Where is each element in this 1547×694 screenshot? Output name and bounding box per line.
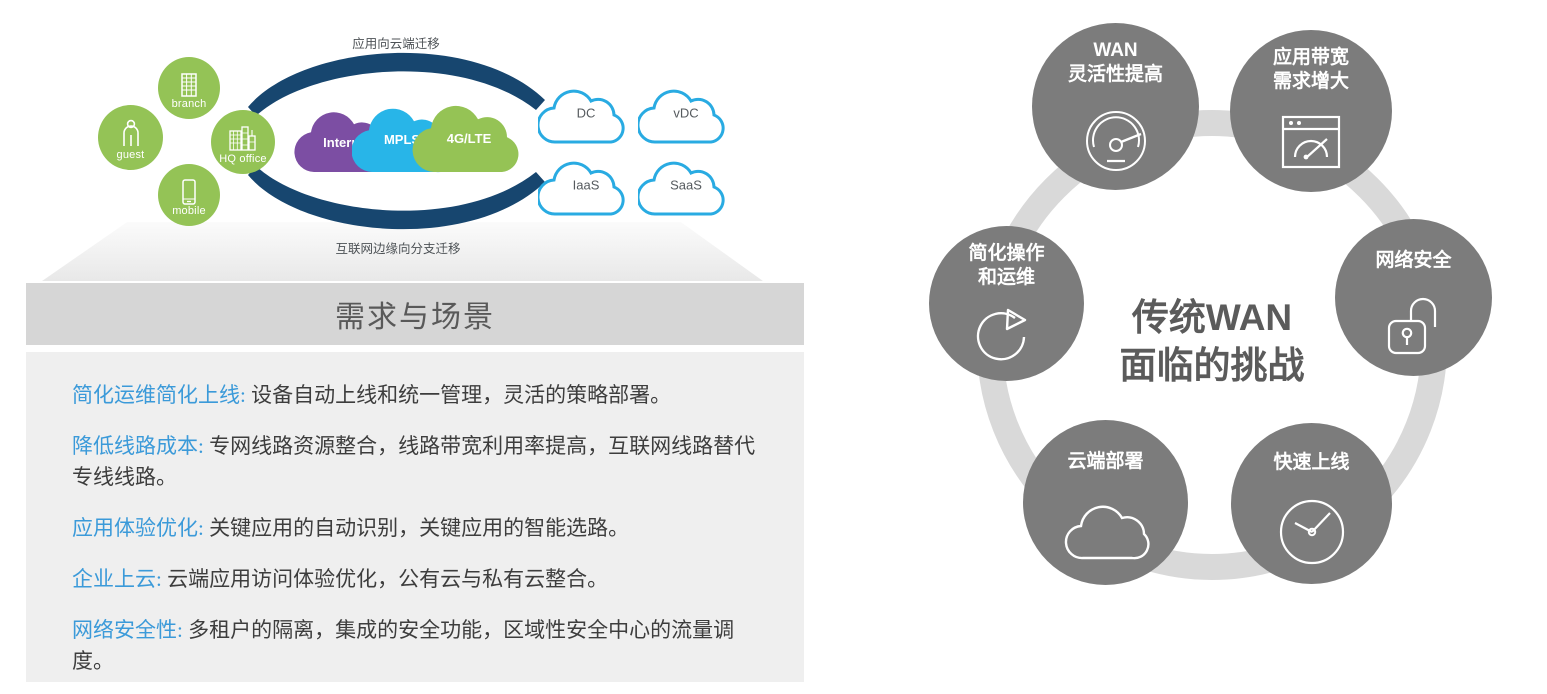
section-title-band: 需求与场景 [26,283,804,345]
network-scene: 应用向云端迁移 互联网边缘向分支迁移 guest [0,0,810,275]
building-icon [178,71,200,104]
list-item: 简化运维简化上线: 设备自动上线和统一管理，灵活的策略部署。 [72,380,758,411]
bullet-key: 网络安全性 [72,618,177,642]
destination-label: DC [538,106,634,121]
destination-cloud-vdc[interactable]: vDC [638,80,734,146]
bullet-sep: : [240,383,251,407]
endpoint-guest[interactable]: guest [98,105,163,170]
person-icon [120,119,142,154]
bullet-sep: : [198,516,209,540]
arc-bottom-label: 互联网边缘向分支迁移 [248,238,548,257]
page-title: 需求与场景 [335,292,495,336]
node-label: WAN 灵活性提高 [1032,23,1199,87]
bullet-key: 降低线路成本 [72,434,198,458]
node-fast-online[interactable]: 快速上线 [1231,423,1392,584]
list-item: 企业上云: 云端应用访问体验优化，公有云与私有云整合。 [72,564,758,595]
smartphone-icon [179,178,199,213]
left-panel: 应用向云端迁移 互联网边缘向分支迁移 guest [0,0,810,694]
city-skyline-icon [227,124,259,157]
destination-cloud-iaas[interactable]: IaaS [538,152,634,218]
destination-label: SaaS [638,178,734,193]
gauge-icon [1079,109,1153,182]
node-app-bandwidth[interactable]: 应用带宽 需求增大 [1230,30,1392,192]
node-label: 网络安全 [1335,219,1492,273]
cloud-icon [1061,498,1151,569]
challenges-wheel-panel: WAN 灵活性提高 应用带宽 需求增大 [880,0,1547,694]
destination-cloud-saas[interactable]: SaaS [638,152,734,218]
bullet-key: 企业上云 [72,567,156,591]
endpoint-mobile[interactable]: mobile [158,164,220,226]
bullet-sep: : [177,618,188,642]
list-item: 应用体验优化: 关键应用的自动识别，关键应用的智能选路。 [72,513,758,544]
node-label: 简化操作 和运维 [929,226,1084,290]
open-padlock-icon [1381,295,1447,362]
list-item: 网络安全性: 多租户的隔离，集成的安全功能，区域性安全中心的流量调度。 [72,615,758,677]
endpoint-hq-office[interactable]: HQ office [211,110,275,174]
node-cloud-deploy[interactable]: 云端部署 [1023,420,1188,585]
node-label: 快速上线 [1231,423,1392,475]
bullet-text: 关键应用的自动识别，关键应用的智能选路。 [209,516,629,540]
requirements-panel: 简化运维简化上线: 设备自动上线和统一管理，灵活的策略部署。 降低线路成本: 专… [26,352,804,682]
destination-label: vDC [638,106,734,121]
bullet-text: 设备自动上线和统一管理，灵活的策略部署。 [251,383,671,407]
arc-top-label: 应用向云端迁移 [246,33,546,52]
bullet-key: 应用体验优化 [72,516,198,540]
bullet-sep: : [198,434,209,458]
bullet-sep: : [156,567,167,591]
endpoint-branch[interactable]: branch [158,57,220,119]
transport-cloud-4g-lte[interactable]: 4G/LTE [412,102,526,174]
node-label: 应用带宽 需求增大 [1230,30,1392,94]
list-item: 降低线路成本: 专网线路资源整合，线路带宽利用率提高，互联网线路替代专线线路。 [72,431,758,493]
destination-label: IaaS [538,178,634,193]
refresh-arrow-icon [975,304,1039,373]
browser-gauge-icon [1279,113,1343,178]
bullet-text: 云端应用访问体验优化，公有云与私有云整合。 [167,567,608,591]
node-wan-flex[interactable]: WAN 灵活性提高 [1032,23,1199,190]
clock-icon [1276,496,1348,573]
transport-label: 4G/LTE [412,131,526,146]
wheel-center-title: 传统WAN 面临的挑战 [1052,294,1372,390]
bullet-key: 简化运维简化上线 [72,383,240,407]
destination-cloud-dc[interactable]: DC [538,80,634,146]
node-label: 云端部署 [1023,420,1188,474]
